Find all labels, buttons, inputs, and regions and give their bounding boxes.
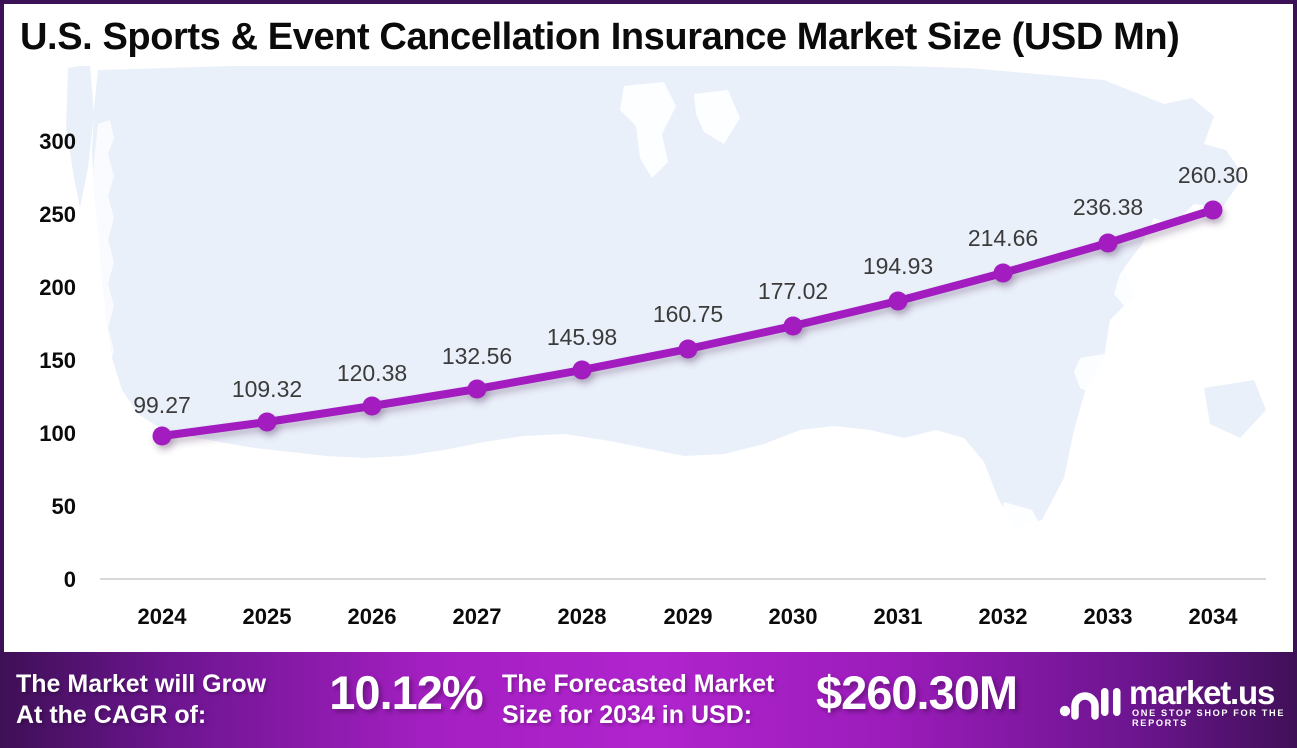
data-label-2028: 145.98 xyxy=(522,324,642,351)
chart-plot-area: 300 250 200 150 100 50 0 2024 2025 2026 … xyxy=(4,66,1293,649)
logo-tagline: ONE STOP SHOP FOR THE REPORTS xyxy=(1132,708,1291,728)
cagr-caption: The Market will Grow At the CAGR of: xyxy=(16,669,306,731)
data-label-2034: 260.30 xyxy=(1153,162,1273,189)
y-tick-label-250: 250 xyxy=(4,202,76,228)
cagr-caption-line2: At the CAGR of: xyxy=(16,701,206,729)
cagr-value: 10.12% xyxy=(316,665,496,720)
data-label-2030: 177.02 xyxy=(733,278,853,305)
x-tick-label-2033: 2033 xyxy=(1053,604,1163,630)
x-tick-label-2027: 2027 xyxy=(422,604,532,630)
x-tick-label-2031: 2031 xyxy=(843,604,953,630)
x-tick-label-2034: 2034 xyxy=(1158,604,1268,630)
y-tick-label-0: 0 xyxy=(4,567,76,593)
brand-logo[interactable]: market.us ONE STOP SHOP FOR THE REPORTS xyxy=(1059,676,1291,730)
cagr-caption-line1: The Market will Grow xyxy=(16,670,266,698)
infographic-root: U.S. Sports & Event Cancellation Insuran… xyxy=(0,0,1297,748)
x-tick-label-2030: 2030 xyxy=(738,604,848,630)
data-label-2026: 120.38 xyxy=(312,360,432,387)
x-tick-label-2026: 2026 xyxy=(317,604,427,630)
y-tick-label-300: 300 xyxy=(4,129,76,155)
data-label-2029: 160.75 xyxy=(628,301,748,328)
y-tick-label-150: 150 xyxy=(4,348,76,374)
data-label-2032: 214.66 xyxy=(943,225,1063,252)
line-chart-svg xyxy=(4,66,1293,649)
x-tick-label-2032: 2032 xyxy=(948,604,1058,630)
y-tick-label-100: 100 xyxy=(4,421,76,447)
y-tick-label-50: 50 xyxy=(4,494,76,520)
forecast-size-value: $260.30M xyxy=(816,665,1066,720)
forecast-size-caption: The Forecasted Market Size for 2034 in U… xyxy=(502,669,812,731)
forecast-size-caption-line1: The Forecasted Market xyxy=(502,670,774,698)
data-label-2027: 132.56 xyxy=(417,343,537,370)
data-label-2025: 109.32 xyxy=(207,376,327,403)
data-label-2024: 99.27 xyxy=(102,392,222,419)
x-tick-label-2029: 2029 xyxy=(633,604,743,630)
x-tick-label-2025: 2025 xyxy=(212,604,322,630)
x-tick-label-2024: 2024 xyxy=(107,604,217,630)
x-tick-label-2028: 2028 xyxy=(527,604,637,630)
data-label-2033: 236.38 xyxy=(1048,194,1168,221)
logo-wordmark: market.us xyxy=(1129,674,1274,712)
page-title: U.S. Sports & Event Cancellation Insuran… xyxy=(20,12,1282,62)
y-tick-label-200: 200 xyxy=(4,275,76,301)
market-us-logo-mark xyxy=(1059,680,1123,722)
forecast-size-caption-line2: Size for 2034 in USD: xyxy=(502,701,752,729)
data-label-2031: 194.93 xyxy=(838,253,958,280)
